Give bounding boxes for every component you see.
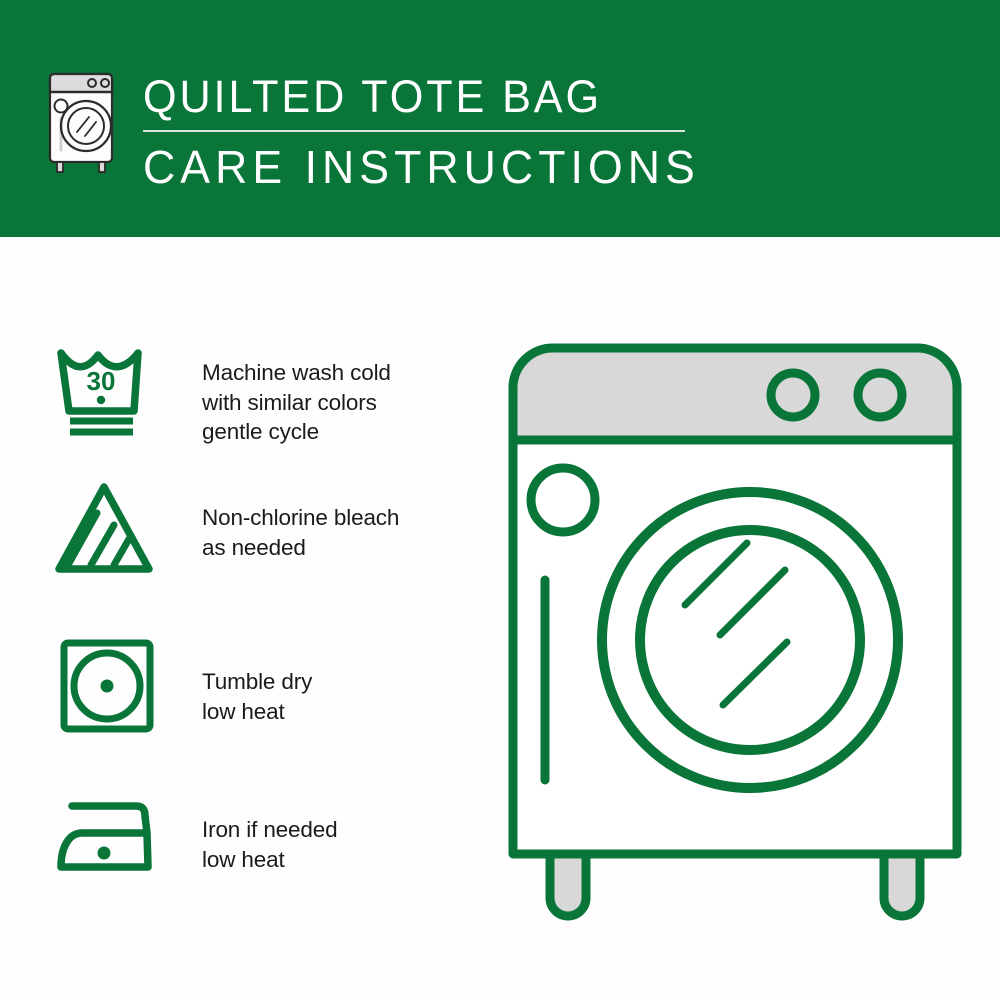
care-instruction-text: Tumble dry low heat	[202, 667, 472, 726]
tumble-dry-low-icon	[52, 637, 162, 741]
machine-leg-left	[550, 854, 586, 916]
title-divider	[143, 130, 685, 132]
wash-temperature-label: 30	[87, 366, 116, 396]
care-instruction-row: Non-chlorine bleach as needed	[52, 477, 472, 581]
care-instruction-row: Iron if needed low heat	[52, 785, 472, 889]
front-load-washing-machine-illustration	[495, 330, 975, 930]
care-instruction-text: Machine wash cold with similar colors ge…	[202, 358, 472, 447]
machine-leg-right	[884, 854, 920, 916]
care-instruction-text: Iron if needed low heat	[202, 815, 472, 874]
header-title-block: QUILTED TOTE BAG CARE INSTRUCTIONS	[143, 72, 843, 193]
non-chlorine-bleach-triangle-icon	[52, 477, 162, 581]
page-title-secondary: CARE INSTRUCTIONS	[143, 141, 822, 193]
page-title-primary: QUILTED TOTE BAG	[143, 72, 815, 122]
washing-machine-icon	[44, 68, 126, 176]
wash-tub-30-icon: 30	[52, 337, 162, 441]
care-instruction-text: Non-chlorine bleach as needed	[202, 503, 472, 562]
header-band: QUILTED TOTE BAG CARE INSTRUCTIONS	[0, 0, 1000, 237]
care-instructions-page: QUILTED TOTE BAG CARE INSTRUCTIONS 30 Ma…	[0, 0, 1000, 1000]
care-instruction-row: Tumble dry low heat	[52, 637, 472, 741]
care-instruction-row: 30 Machine wash cold with similar colors…	[52, 337, 472, 447]
control-panel	[513, 348, 957, 440]
iron-low-heat-icon	[52, 785, 162, 889]
care-instruction-list: 30 Machine wash cold with similar colors…	[0, 237, 480, 1000]
